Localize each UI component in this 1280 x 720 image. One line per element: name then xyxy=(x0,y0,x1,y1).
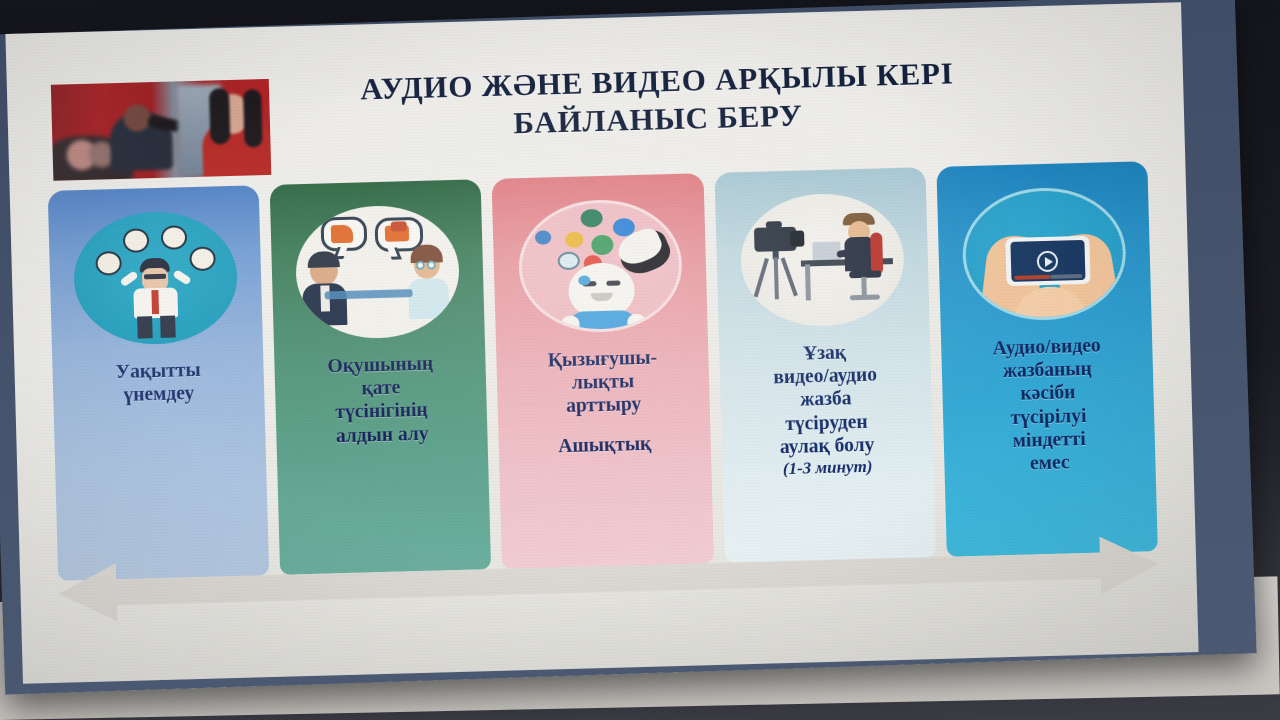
card-icon-zone xyxy=(270,179,486,353)
header-photo xyxy=(51,79,272,181)
card-prevent-misconception[interactable]: Оқушының қате түсінігінің алдын алу xyxy=(270,179,492,575)
card-icon-zone xyxy=(936,161,1152,335)
card-line: үнемдеу xyxy=(63,381,255,409)
curious-character-ideas-icon xyxy=(517,198,684,334)
card-icon-zone xyxy=(48,185,264,359)
card-time-saving[interactable]: Уақытты үнемдеу xyxy=(48,185,270,581)
slide-header: АУДИО ЖӘНЕ ВИДЕО АРҚЫЛЫ КЕРІ БАЙЛАНЫС БЕ… xyxy=(7,42,1186,184)
card-subtitle: Ашықтық xyxy=(509,431,701,459)
card-increase-interest[interactable]: Қызығушы- лықты арттыру Ашықтық xyxy=(492,173,714,569)
card-no-professional-required[interactable]: Аудио/видео жазбаның кәсіби түсірілуі мі… xyxy=(936,161,1158,557)
card-text: Ұзақ видео/аудио жазба түсіруден аулақ б… xyxy=(719,335,934,481)
card-icon-zone xyxy=(714,167,930,341)
card-avoid-long-recording[interactable]: Ұзақ видео/аудио жазба түсіруден аулақ б… xyxy=(714,167,936,563)
presentation-slide: АУДИО ЖӘНЕ ВИДЕО АРҚЫЛЫ КЕРІ БАЙЛАНЫС БЕ… xyxy=(5,2,1198,684)
card-line: арттыру xyxy=(508,392,700,420)
card-line: емес xyxy=(954,449,1146,477)
slide-surface-wrapper: АУДИО ЖӘНЕ ВИДЕО АРҚЫЛЫ КЕРІ БАЙЛАНЫС БЕ… xyxy=(5,2,1198,684)
page-title: АУДИО ЖӘНЕ ВИДЕО АРҚЫЛЫ КЕРІ БАЙЛАНЫС БЕ… xyxy=(247,51,1069,150)
juggling-clocks-icon xyxy=(72,210,239,346)
card-icon-zone xyxy=(492,173,708,347)
card-text: Оқушының қате түсінігінің алдын алу xyxy=(274,347,488,449)
photographed-screen-scene: АУДИО ЖӘНЕ ВИДЕО АРҚЫЛЫ КЕРІ БАЙЛАНЫС БЕ… xyxy=(0,0,1280,720)
card-duration-note: (1-3 минут) xyxy=(732,455,924,480)
hands-holding-phone-video-icon xyxy=(961,186,1128,322)
card-text: Аудио/видео жазбаның кәсіби түсірілуі мі… xyxy=(941,329,1156,478)
miscommunication-speech-bubbles-icon xyxy=(295,204,462,340)
camera-tripod-filming-desk-icon xyxy=(739,192,906,328)
cards-row: Уақытты үнемдеу xyxy=(48,161,1158,581)
card-text: Уақытты үнемдеу xyxy=(52,353,264,409)
card-text: Қызығушы- лықты арттыру Ашықтық xyxy=(496,341,710,459)
card-line: алдын алу xyxy=(286,421,478,449)
